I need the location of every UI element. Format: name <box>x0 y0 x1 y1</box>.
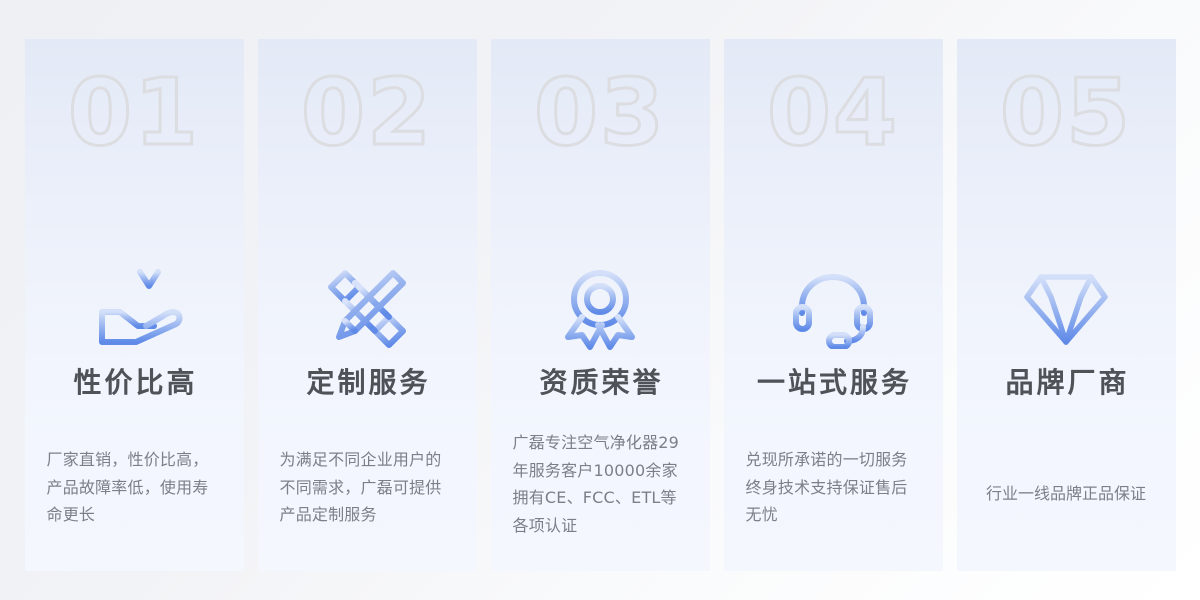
diamond-icon <box>957 261 1176 357</box>
card-number-watermark: 03 <box>491 67 710 159</box>
card-number-watermark: 02 <box>258 67 477 159</box>
feature-cards-section: 01 性价比高 厂家直销，性价比高，产品故障率低，使用寿命更长 02 <box>0 0 1200 600</box>
card-title: 资质荣誉 <box>491 361 710 401</box>
card-number-watermark: 04 <box>724 67 943 159</box>
card-description: 兑现所承诺的一切服务终身技术支持保证售后无忧 <box>746 446 921 529</box>
card-number-watermark: 05 <box>957 67 1176 159</box>
card-title: 品牌厂商 <box>957 361 1176 401</box>
feature-card-3[interactable]: 03 资质荣誉 广磊专注空气净化器29年服务客户10000余家拥有CE、FCC、… <box>491 39 710 571</box>
card-title: 定制服务 <box>258 361 477 401</box>
feature-card-5[interactable]: 05 品牌厂商 行业一线品牌正品保证 <box>957 39 1176 571</box>
card-description: 厂家直销，性价比高，产品故障率低，使用寿命更长 <box>47 446 222 529</box>
card-number-watermark: 01 <box>25 67 244 159</box>
pencil-ruler-icon <box>258 261 477 357</box>
card-title: 一站式服务 <box>724 361 943 401</box>
headset-icon <box>724 261 943 357</box>
hand-holding-yuan-icon <box>25 261 244 357</box>
feature-card-2[interactable]: 02 <box>258 39 477 571</box>
card-description: 为满足不同企业用户的不同需求，广磊可提供产品定制服务 <box>280 446 455 529</box>
feature-card-4[interactable]: 04 一站式服务 兑现所承诺的一切服务终身技术支持保证售后无忧 <box>724 39 943 571</box>
award-ribbon-icon <box>491 261 710 357</box>
card-title: 性价比高 <box>25 361 244 401</box>
card-description: 行业一线品牌正品保证 <box>965 480 1168 508</box>
feature-card-1[interactable]: 01 性价比高 厂家直销，性价比高，产品故障率低，使用寿命更长 <box>25 39 244 571</box>
card-description: 广磊专注空气净化器29年服务客户10000余家拥有CE、FCC、ETL等各项认证 <box>513 429 688 539</box>
